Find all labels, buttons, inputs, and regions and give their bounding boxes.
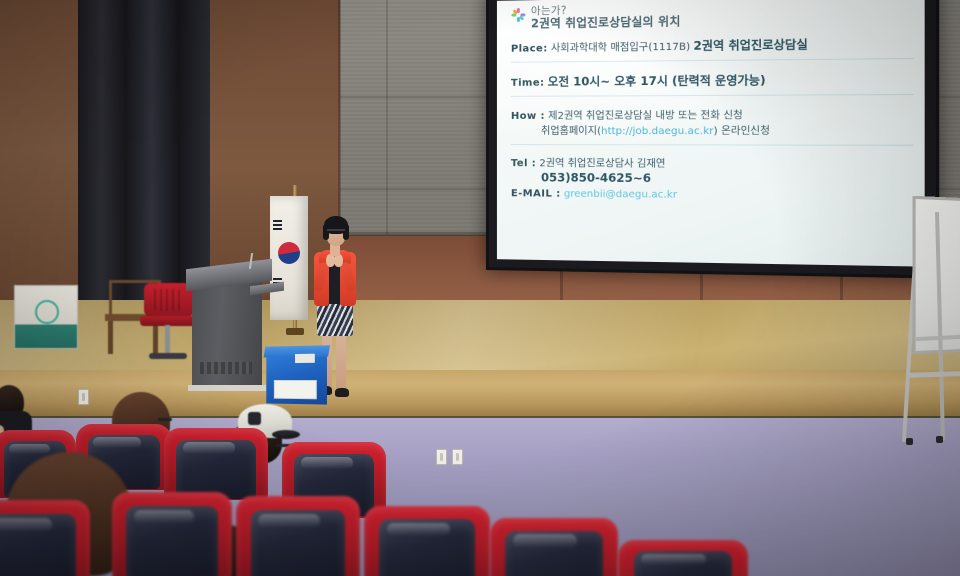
auditorium-seat[interactable]: [236, 496, 360, 576]
slide-place-row: Place: 사회과학대학 매점입구(1117B) 2권역 취업진로상담실: [511, 37, 914, 56]
cap-brim: [272, 430, 300, 439]
left-wall-wood-panel: [0, 0, 80, 300]
place-emphasis: 2권역 취업진로상담실: [693, 37, 807, 53]
tel-number: 053)850-4625~6: [541, 170, 651, 185]
stage-power-outlet[interactable]: [78, 389, 89, 405]
stage-curtain: [78, 0, 210, 300]
korean-national-flag: [270, 196, 308, 320]
projection-screen: 아는가? 2권역 취업진로상담실의 위치 Place: 사회과학대학 매점입구(…: [486, 0, 939, 279]
how-line2-prefix: 취업홈페이지(: [541, 126, 601, 137]
box-logo: [35, 300, 59, 324]
slide-how-row2: 취업홈페이지(http://job.daegu.ac.kr) 온라인신청: [511, 125, 914, 139]
slide-how-row: How : 제2권역 취업진로상담실 내방 또는 전화 신청: [511, 109, 914, 123]
flag-stand-base: [286, 328, 304, 335]
slide-divider: [511, 94, 914, 97]
slide-divider: [511, 58, 914, 63]
job-site-url[interactable]: http://job.daegu.ac.kr: [601, 126, 714, 137]
auditorium-seat[interactable]: [364, 506, 490, 576]
slide-tel-number-row: 053)850-4625~6: [511, 171, 914, 188]
cap-logo: [248, 412, 261, 425]
auditorium-seat[interactable]: [164, 428, 268, 500]
time-value: 오전 10시~ 오후 17시 (탄력적 운영가능): [548, 73, 766, 89]
place-value: 사회과학대학 매점입구(1117B): [551, 42, 690, 55]
audience-glasses: [158, 418, 172, 421]
how-line2-suffix: ) 온라인신청: [714, 126, 770, 137]
auditorium-presentation-photo: 아는가? 2권역 취업진로상담실의 위치 Place: 사회과학대학 매점입구(…: [0, 0, 960, 576]
time-label: Time:: [511, 78, 545, 89]
how-line1: 제2권역 취업진로상담실 내방 또는 전화 신청: [548, 110, 743, 122]
presenter-leg: [336, 330, 346, 392]
email-address[interactable]: greenbii@daegu.ac.kr: [564, 189, 677, 201]
email-label: E-MAIL :: [511, 188, 561, 199]
auditorium-seat[interactable]: [112, 492, 232, 576]
presenter-hair-side: [343, 224, 349, 240]
auditorium-seat[interactable]: [490, 518, 618, 576]
how-label: How :: [511, 111, 545, 122]
slide-time-row: Time: 오전 10시~ 오후 17시 (탄력적 운영가능): [511, 73, 914, 90]
tel-label: Tel :: [511, 158, 536, 169]
stage-power-outlet[interactable]: [436, 449, 447, 465]
blue-box-tag: [295, 354, 315, 363]
tel-staff: 2권역 취업진로상담사 김재연: [539, 158, 665, 170]
auditorium-seat[interactable]: [618, 540, 748, 576]
easel-foot: [906, 438, 913, 445]
taegeuk-symbol: [278, 242, 300, 264]
presentation-slide: 아는가? 2권역 취업진로상담실의 위치 Place: 사회과학대학 매점입구(…: [497, 0, 925, 267]
blue-box-label: [274, 380, 317, 399]
presenter-glasses: [327, 229, 345, 231]
easel-foot: [936, 436, 943, 443]
asterisk-flower-icon: [511, 7, 526, 22]
lectern-vent: [200, 362, 252, 374]
blue-storage-box: [266, 351, 327, 404]
cardboard-box: [14, 285, 78, 349]
stage-power-outlet[interactable]: [452, 449, 463, 465]
place-label: Place:: [511, 43, 548, 54]
presenter-hair-side: [323, 224, 329, 240]
slide-title-line2: 2권역 취업진로상담실의 위치: [531, 16, 681, 30]
auditorium-seat[interactable]: [0, 500, 90, 576]
slide-divider: [511, 144, 914, 146]
red-office-chair: [140, 283, 196, 367]
lectern-base: [188, 385, 266, 391]
presenter-shoe: [335, 388, 349, 397]
slide-email-row: E-MAIL : greenbii@daegu.ac.kr: [511, 187, 914, 204]
